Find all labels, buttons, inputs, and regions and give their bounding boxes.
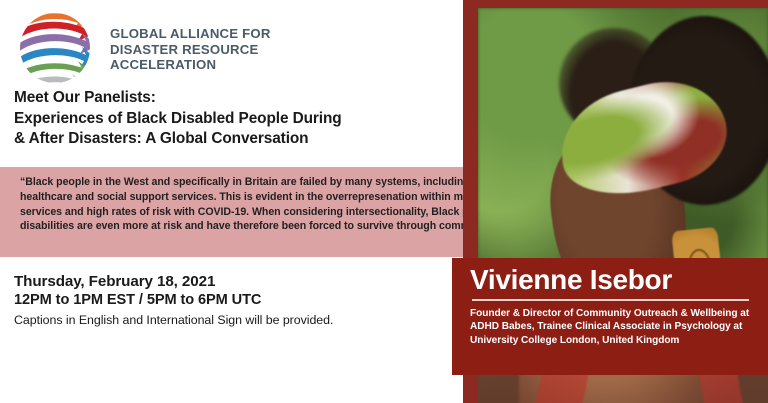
panelist-announcement-poster: GLOBAL ALLIANCE FOR DISASTER RESOURCE AC… [0,0,768,403]
speaker-title: Founder & Director of Community Outreach… [470,307,754,347]
event-date: Thursday, February 18, 2021 [14,272,444,291]
divider [472,299,749,301]
page-title: Meet Our Panelists: Experiences of Black… [14,88,444,150]
speaker-quote-text: “Black people in the West and specifical… [20,175,523,234]
event-time: 12PM to 1PM EST / 5PM to 6PM UTC [14,291,444,310]
organization-name-line-1: GLOBAL ALLIANCE FOR [110,26,315,42]
event-details: Thursday, February 18, 2021 12PM to 1PM … [14,272,444,329]
speaker-quote-block: “Black people in the West and specifical… [0,167,537,257]
organization-name-line-2: DISASTER RESOURCE [110,42,315,58]
speaker-name-panel: Vivienne Isebor Founder & Director of Co… [452,258,768,375]
organization-name: GLOBAL ALLIANCE FOR DISASTER RESOURCE AC… [110,26,315,73]
organization-logo: GLOBAL ALLIANCE FOR DISASTER RESOURCE AC… [14,6,314,90]
headline-line-3: & After Disasters: A Global Conversation [14,129,444,150]
headline-line-2: Experiences of Black Disabled People Dur… [14,109,444,130]
event-accessibility-note: Captions in English and International Si… [14,312,444,329]
speaker-name: Vivienne Isebor [470,264,754,296]
headline-line-1: Meet Our Panelists: [14,88,444,109]
globe-arrows-icon [14,8,96,88]
organization-name-line-3: ACCELERATION [110,57,315,73]
